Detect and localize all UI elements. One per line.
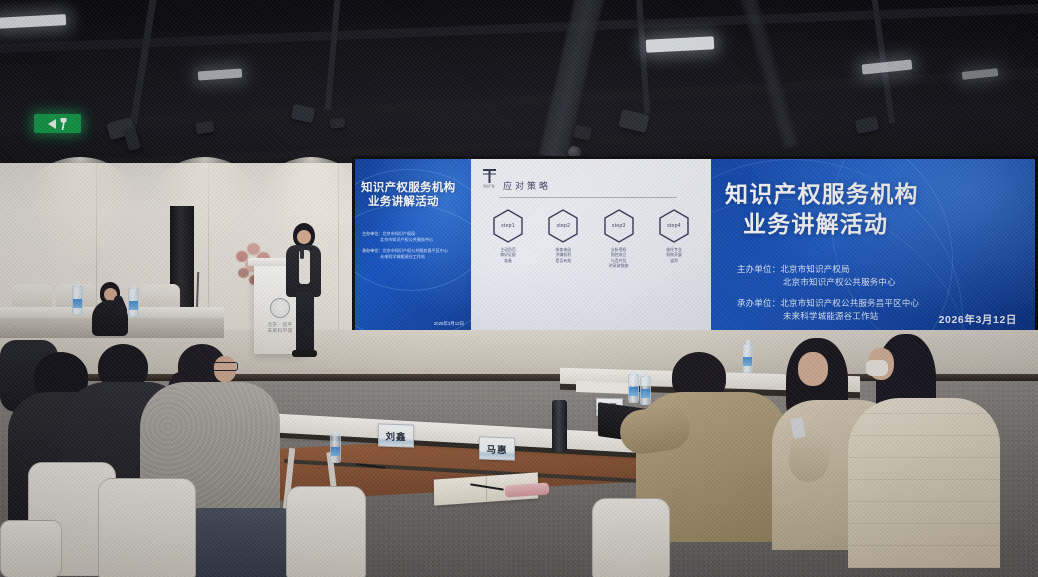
- hexagon-icon: step4: [659, 209, 689, 243]
- water-bottle: [628, 374, 639, 403]
- podium-logo-icon: [270, 298, 290, 318]
- stage-spotlight: [573, 125, 592, 141]
- running-man-icon: [59, 118, 68, 130]
- led-panel-main-slide: 知识产权服务机构 业务讲解活动 主办单位：北京市知识产权局 北京市知识产权公共服…: [711, 159, 1035, 339]
- ceiling-beam: [129, 0, 158, 130]
- led-video-wall: 知识产权服务机构 业务讲解活动 主办单位：北京市知识产权局 北京市知识产权公共服…: [352, 156, 1038, 342]
- step-item: step4 依托专业 机构开展 谈判: [651, 209, 697, 269]
- water-bottle: [128, 288, 139, 317]
- folding-chair: [98, 478, 196, 577]
- main-slide-title: 知识产权服务机构 业务讲解活动: [725, 179, 1029, 239]
- face: [297, 230, 311, 244]
- shoes: [292, 350, 317, 357]
- folding-chair: [286, 486, 366, 577]
- repeat-slide-title: 知识产权服务机构 业务讲解活动: [361, 181, 466, 209]
- title-underline: [499, 197, 677, 198]
- hexagon-icon: step3: [604, 209, 634, 243]
- jeans: [182, 508, 296, 577]
- step-hexagon-row: step1 主动防范 做好证据 准备 step2 核查来函 涉嫌权利 是否有效 …: [485, 209, 697, 269]
- ceiling: [0, 0, 1038, 175]
- step-desc: 分析侵权 指控成立 与否并及 时采取措施: [596, 247, 642, 269]
- water-bottle: [330, 434, 341, 463]
- name-placard: 刘鑫: [378, 423, 414, 447]
- step-desc: 主动防范 做好证据 准备: [485, 247, 531, 263]
- handheld-microphone-icon: [300, 248, 304, 259]
- content-slide-title: 应对策略: [503, 179, 551, 192]
- step-item: step1 主动防范 做好证据 准备: [485, 209, 531, 269]
- logo-mark-icon: [483, 169, 496, 183]
- step-item: step3 分析侵权 指控成立 与否并及 时采取措施: [596, 209, 642, 269]
- led-panel-repeat-slide: 知识产权服务机构 业务讲解活动 主办单位：北京市知识产权局 北京市知识产权公共服…: [355, 159, 471, 339]
- hexagon-icon: step1: [493, 209, 523, 243]
- stage-spotlight: [123, 127, 141, 151]
- conference-photo-scene: 知识产权服务机构 业务讲解活动 主办单位：北京市知识产权局 北京市知识产权公共服…: [0, 0, 1038, 577]
- led-panel-content-slide: 知识产权 应对策略 step1 主动防范 做好证据 准备 step2: [471, 159, 711, 339]
- logo-text: 知识产权: [481, 184, 497, 188]
- folding-chair-seat: [0, 520, 62, 577]
- stage-spotlight: [195, 121, 214, 134]
- ceiling-light: [646, 36, 715, 53]
- exit-arrow-icon: [48, 119, 56, 129]
- ceiling-light: [0, 14, 66, 29]
- stage-spotlight: [291, 104, 316, 123]
- thermos-flask: [552, 400, 567, 452]
- name-placard: 马惠: [479, 436, 515, 460]
- papers-on-table: [576, 381, 630, 394]
- step-label: step2: [556, 223, 570, 229]
- water-bottle: [742, 344, 753, 373]
- step-label: step1: [501, 223, 515, 229]
- step-label: step4: [667, 223, 681, 229]
- step-item: step2 核查来函 涉嫌权利 是否有效: [540, 209, 586, 269]
- step-desc: 依托专业 机构开展 谈判: [651, 247, 697, 263]
- exit-sign: [34, 114, 81, 133]
- puffer-quilting: [848, 398, 1000, 568]
- folding-chair: [592, 498, 670, 577]
- water-bottle: [640, 376, 651, 405]
- step-desc: 核查来函 涉嫌权利 是否有效: [540, 247, 586, 263]
- legs: [296, 292, 314, 354]
- ceiling-light: [198, 68, 243, 80]
- hexagon-icon: step2: [548, 209, 578, 243]
- ceiling-beam: [325, 0, 341, 110]
- slide-logo: 知识产权: [481, 169, 497, 189]
- repeat-slide-organizers: 主办单位：北京市知识产权局 北京市知识产权公共服务中心 承办单位：北京市知识产权…: [362, 231, 467, 260]
- main-slide-date: 2026年3月12日: [939, 312, 1017, 327]
- repeat-slide-date: 2026年3月12日: [434, 321, 464, 327]
- glasses-icon: [212, 362, 238, 371]
- step-label: step3: [612, 223, 626, 229]
- face-mask: [866, 360, 888, 376]
- stage-spotlight: [330, 117, 346, 129]
- water-bottle: [72, 286, 83, 315]
- face: [798, 352, 828, 386]
